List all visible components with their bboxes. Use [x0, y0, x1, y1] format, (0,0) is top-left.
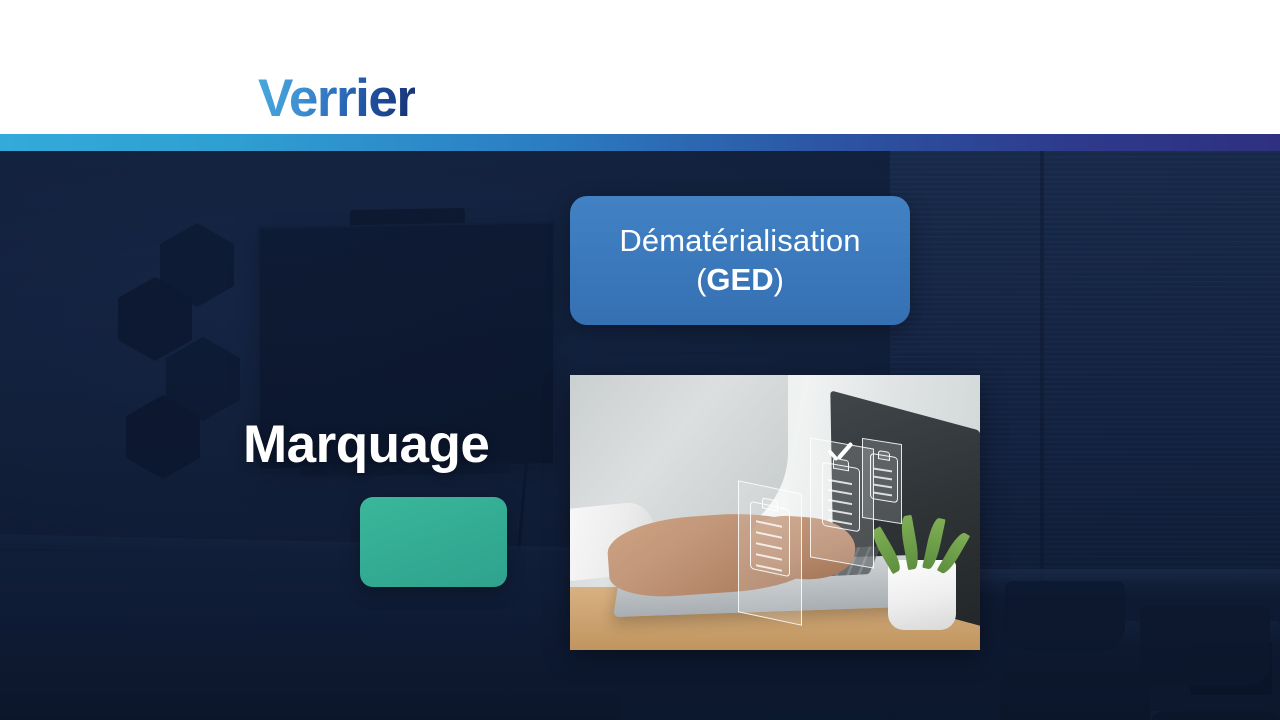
photo-laptop-documents [570, 375, 980, 650]
card-teal-placeholder[interactable] [360, 497, 507, 587]
card-ged-line1: Dématérialisation [619, 222, 860, 261]
card-dematerialisation-ged[interactable]: Dématérialisation (GED) [570, 196, 910, 325]
card-ged-line2: (GED) [696, 261, 784, 300]
brand-logo: Verrier [258, 72, 415, 125]
presentation-slide: Verrier Dématérialisation (GED) Marquage [0, 0, 1280, 720]
card-ged-emphasis: GED [706, 262, 773, 297]
checkmark-icon [825, 439, 853, 471]
paren-close: ) [774, 262, 784, 297]
paren-open: ( [696, 262, 706, 297]
accent-gradient-bar [0, 134, 1280, 151]
label-marquage: Marquage [243, 414, 489, 475]
clipboard-clip-icon [878, 450, 890, 461]
header-bar: Verrier [0, 0, 1280, 134]
